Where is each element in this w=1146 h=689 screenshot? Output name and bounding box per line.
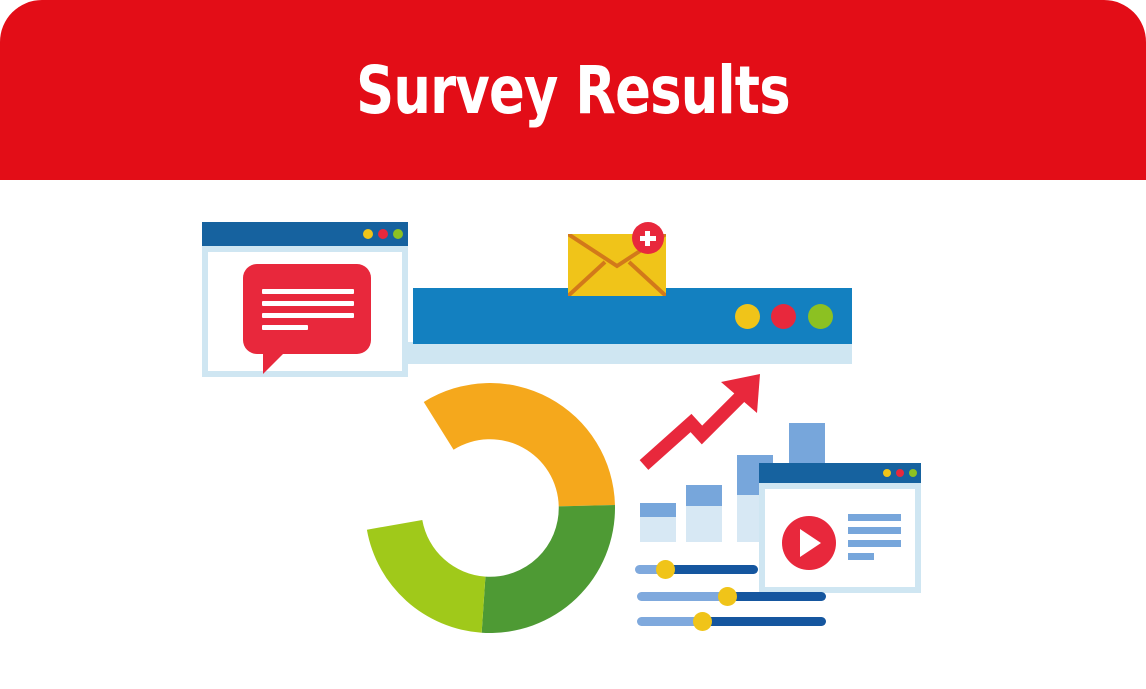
donut-chart-svg: [365, 383, 615, 633]
window-title-bar: [759, 463, 921, 483]
donut-chart: [365, 383, 615, 633]
bar-segment-lower: [640, 517, 676, 542]
window-dot-green-icon[interactable]: [393, 229, 403, 239]
video-text-line: [848, 514, 901, 521]
video-text-line: [848, 540, 901, 547]
bar-segment-upper: [640, 503, 676, 517]
status-dot-green-icon: [808, 304, 833, 329]
bubble-text-line: [262, 313, 354, 318]
notification-bar-shadow: [404, 342, 852, 364]
play-triangle-icon: [800, 529, 821, 557]
status-dot-red-icon: [771, 304, 796, 329]
speech-bubble-tail-icon: [263, 352, 285, 374]
bubble-text-line: [262, 289, 354, 294]
video-text-line: [848, 527, 901, 534]
bubble-text-line: [262, 301, 354, 306]
video-text-line: [848, 553, 874, 560]
donut-slice: [367, 520, 486, 633]
slider-1-track-filled[interactable]: [665, 565, 758, 574]
header-banner: Survey Results: [0, 0, 1146, 180]
bar-segment-upper: [686, 485, 722, 506]
slider-2-handle[interactable]: [718, 587, 737, 606]
donut-slice: [424, 383, 615, 506]
donut-slice: [482, 505, 615, 633]
speech-bubble-icon: [243, 264, 371, 354]
bar-segment-lower: [686, 506, 722, 542]
window-dot-green-icon[interactable]: [909, 469, 917, 477]
slider-2-track-filled[interactable]: [727, 592, 826, 601]
page-title: Survey Results: [115, 0, 1032, 180]
window-dot-red-icon[interactable]: [378, 229, 388, 239]
slider-3-track-filled[interactable]: [702, 617, 826, 626]
window-dot-yellow-icon[interactable]: [363, 229, 373, 239]
window-dot-yellow-icon[interactable]: [883, 469, 891, 477]
plus-icon-vertical: [645, 231, 650, 246]
status-dot-yellow-icon: [735, 304, 760, 329]
window-dot-red-icon[interactable]: [896, 469, 904, 477]
window-title-bar: [202, 222, 408, 246]
slider-1-handle[interactable]: [656, 560, 675, 579]
illustration-canvas: Survey Results: [0, 0, 1146, 689]
slider-3-handle[interactable]: [693, 612, 712, 631]
bubble-text-line: [262, 325, 308, 330]
